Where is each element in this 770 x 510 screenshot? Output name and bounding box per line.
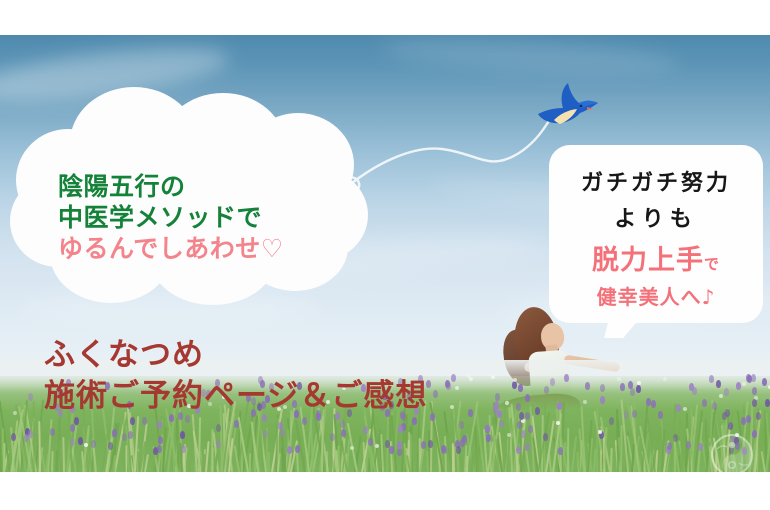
square-line-1: ガチガチ努力 [549,165,763,197]
square-line-3-main: 脱力上手 [592,245,704,276]
square-line-3-suffix: で [704,255,720,273]
cloud-speech-bubble: 陰陽五行の 中医学メソッドで ゆるんでしあわせ♡ [10,87,370,305]
watermark-logo: ふくなつめ [703,433,761,472]
title-line-2: 施術ご予約ページ＆ご感想 [44,375,427,417]
square-bubble-text: ガチガチ努力 よりも 脱力上手で 健幸美人へ♪ [549,145,763,310]
yin-yang-logo-icon [703,433,761,472]
square-speech-bubble: ガチガチ努力 よりも 脱力上手で 健幸美人へ♪ [549,145,763,323]
square-line-4: 健幸美人へ♪ [549,281,763,310]
banner-image: ふくなつめ 陰陽五行の 中医学メソッドで ゆるんでしあわせ♡ ふくなつめ 施術ご [0,0,770,510]
title-line-1: ふくなつめ [44,335,427,375]
cloud-bubble-text: 陰陽五行の 中医学メソッドで ゆるんでしあわせ♡ [58,171,358,265]
square-line-3: 脱力上手で [549,238,763,277]
cloud-line-2: 中医学メソッドで [58,202,358,233]
cloud-line-3: ゆるんでしあわせ♡ [58,233,358,265]
page-title: ふくなつめ 施術ご予約ページ＆ご感想 [44,335,427,417]
flying-bluebird-icon [530,80,602,130]
square-line-2: よりも [549,201,763,233]
cloud-line-1: 陰陽五行の [58,171,358,202]
photo-background: ふくなつめ 陰陽五行の 中医学メソッドで ゆるんでしあわせ♡ ふくなつめ 施術ご [0,35,770,472]
